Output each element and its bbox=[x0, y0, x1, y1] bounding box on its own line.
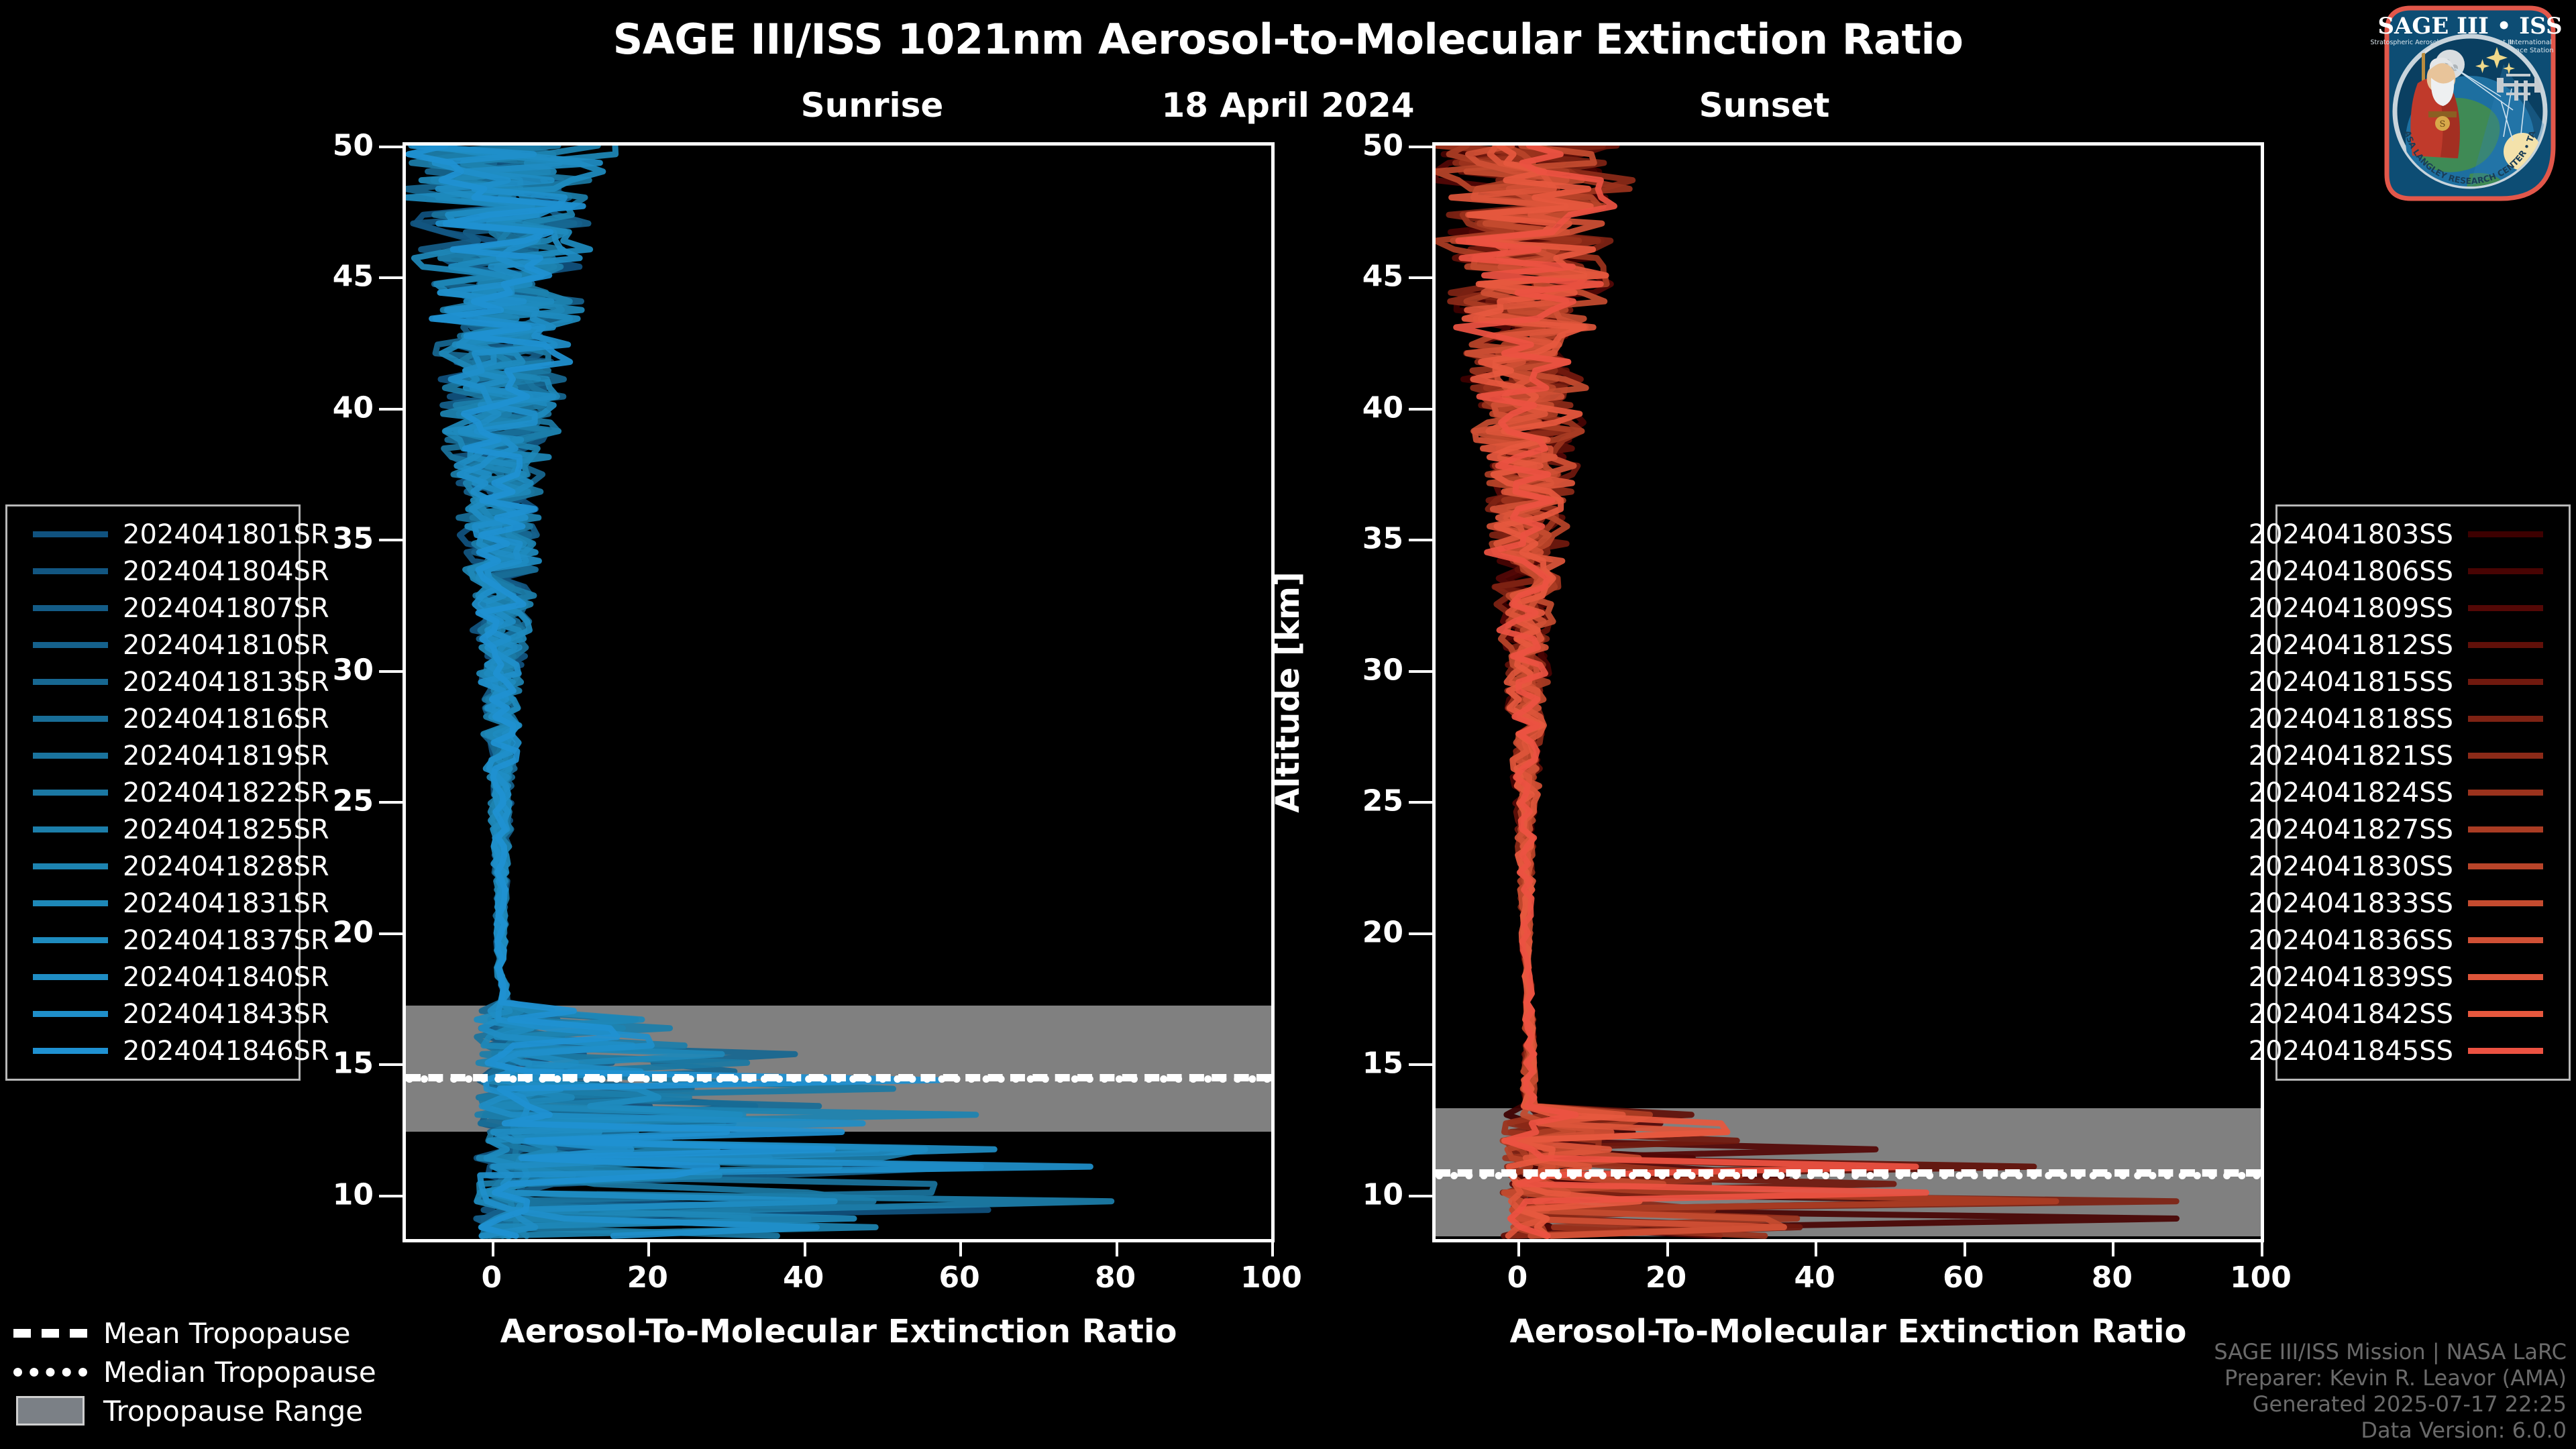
legend-item-2024041801SR[interactable]: 2024041801SR bbox=[18, 516, 288, 553]
y-axis-tick bbox=[379, 276, 406, 279]
credits-block: SAGE III/ISS Mission | NASA LaRC Prepare… bbox=[2214, 1339, 2567, 1444]
x-axis-tick bbox=[1271, 1239, 1274, 1256]
subtitle-row: Sunrise 18 April 2024 Sunset bbox=[0, 86, 2576, 133]
legend-color-swatch bbox=[33, 753, 108, 759]
legend-color-swatch bbox=[2468, 937, 2543, 943]
legend-item-tropopause-range: Tropopause Range bbox=[13, 1391, 443, 1430]
legend-item-label: 2024041825SR bbox=[123, 814, 329, 845]
profile-curves bbox=[1436, 146, 2261, 1239]
y-axis-tick-label: 45 bbox=[333, 260, 374, 294]
legend-color-swatch bbox=[2468, 605, 2543, 611]
y-axis-tick-label: 25 bbox=[1362, 784, 1403, 818]
legend-item-2024041819SR[interactable]: 2024041819SR bbox=[18, 737, 288, 774]
y-axis-tick-label: 30 bbox=[333, 653, 374, 687]
legend-item-label: 2024041806SS bbox=[2249, 556, 2453, 587]
legend-color-swatch bbox=[33, 826, 108, 833]
legend-item-label: 2024041842SS bbox=[2249, 999, 2453, 1030]
legend-item-2024041804SR[interactable]: 2024041804SR bbox=[18, 553, 288, 590]
legend-color-swatch bbox=[2468, 1011, 2543, 1017]
y-axis-tick-label: 30 bbox=[1362, 653, 1403, 687]
y-axis-tick-label: 10 bbox=[333, 1177, 374, 1212]
x-axis-tick bbox=[1517, 1239, 1520, 1256]
legend-item-label: 2024041824SS bbox=[2249, 777, 2453, 808]
x-axis-tick bbox=[1964, 1239, 1966, 1256]
x-axis-tick-label: 20 bbox=[627, 1260, 668, 1295]
x-axis-tick bbox=[2112, 1239, 2114, 1256]
legend-color-swatch bbox=[2468, 679, 2543, 685]
legend-color-swatch bbox=[2468, 826, 2543, 833]
legend-item-2024041833SS[interactable]: 2024041833SS bbox=[2288, 885, 2558, 922]
svg-text:S: S bbox=[2440, 119, 2446, 129]
y-axis-tick-label: 25 bbox=[333, 784, 374, 818]
x-axis-tick bbox=[2261, 1239, 2263, 1256]
x-axis-tick bbox=[959, 1239, 962, 1256]
y-axis-tick bbox=[1409, 801, 1436, 804]
svg-text:International: International bbox=[2509, 39, 2552, 46]
tropopause-legend: Mean Tropopause Median Tropopause Tropop… bbox=[13, 1313, 443, 1430]
legend-item-2024041846SR[interactable]: 2024041846SR bbox=[18, 1032, 288, 1069]
sunset-plot-panel: Altitude [km] Aerosol-To-Molecular Extin… bbox=[1432, 142, 2264, 1242]
median-tropopause-line bbox=[406, 1075, 1271, 1083]
y-axis-tick-label: 45 bbox=[1362, 260, 1403, 294]
legend-item-label: 2024041836SS bbox=[2249, 925, 2453, 956]
x-axis-tick-label: 100 bbox=[2230, 1260, 2292, 1295]
y-axis-tick bbox=[379, 801, 406, 804]
legend-item-2024041828SR[interactable]: 2024041828SR bbox=[18, 848, 288, 885]
legend-item-label: 2024041819SR bbox=[123, 741, 329, 771]
legend-item-2024041831SR[interactable]: 2024041831SR bbox=[18, 885, 288, 922]
y-axis-tick-label: 10 bbox=[1362, 1177, 1403, 1212]
legend-color-swatch bbox=[2468, 642, 2543, 648]
legend-item-label: 2024041840SR bbox=[123, 962, 329, 993]
y-axis-tick-label: 15 bbox=[1362, 1046, 1403, 1081]
sunset-profile-legend[interactable]: 2024041803SS2024041806SS2024041809SS2024… bbox=[2275, 504, 2571, 1081]
legend-color-swatch bbox=[2468, 863, 2543, 869]
legend-item-2024041843SR[interactable]: 2024041843SR bbox=[18, 996, 288, 1032]
x-axis-tick bbox=[1116, 1239, 1118, 1256]
legend-item-label: 2024041830SS bbox=[2249, 851, 2453, 882]
sunrise-panel-label: Sunrise bbox=[704, 86, 1040, 125]
sage-iii-iss-logo-icon: SAGE III • ISS Stratospheric Aerosol and… bbox=[2369, 3, 2571, 204]
legend-item-2024041807SR[interactable]: 2024041807SR bbox=[18, 590, 288, 627]
y-axis-tick bbox=[379, 1195, 406, 1197]
median-tropopause-line bbox=[1436, 1172, 2261, 1179]
credit-line-mission: SAGE III/ISS Mission | NASA LaRC bbox=[2214, 1339, 2567, 1365]
shaded-band-icon bbox=[13, 1396, 87, 1426]
legend-color-swatch bbox=[33, 531, 108, 537]
legend-item-2024041825SR[interactable]: 2024041825SR bbox=[18, 811, 288, 848]
legend-item-label: 2024041827SS bbox=[2249, 814, 2453, 845]
sunrise-plot-panel: Altitude [km] Aerosol-To-Molecular Extin… bbox=[402, 142, 1275, 1242]
legend-item-2024041821SS[interactable]: 2024041821SS bbox=[2288, 737, 2558, 774]
legend-item-median-tropopause: Median Tropopause bbox=[13, 1352, 443, 1391]
legend-color-swatch bbox=[33, 642, 108, 648]
sunrise-plot-area bbox=[406, 146, 1271, 1239]
x-axis-tick-label: 40 bbox=[783, 1260, 824, 1295]
tropopause-range-label: Tropopause Range bbox=[103, 1395, 363, 1428]
legend-item-2024041827SS[interactable]: 2024041827SS bbox=[2288, 811, 2558, 848]
legend-item-label: 2024041846SR bbox=[123, 1036, 329, 1067]
mean-tropopause-label: Mean Tropopause bbox=[103, 1317, 350, 1350]
legend-item-label: 2024041807SR bbox=[123, 593, 329, 624]
legend-item-2024041839SS[interactable]: 2024041839SS bbox=[2288, 959, 2558, 996]
legend-item-2024041813SR[interactable]: 2024041813SR bbox=[18, 663, 288, 700]
legend-color-swatch bbox=[2468, 568, 2543, 574]
legend-item-2024041836SS[interactable]: 2024041836SS bbox=[2288, 922, 2558, 959]
sunset-x-axis-title: Aerosol-To-Molecular Extinction Ratio bbox=[1436, 1313, 2261, 1350]
y-axis-tick-label: 20 bbox=[1362, 915, 1403, 949]
page-title: SAGE III/ISS 1021nm Aerosol-to-Molecular… bbox=[0, 15, 2576, 64]
credit-line-generated: Generated 2025-07-17 22:25 bbox=[2214, 1391, 2567, 1417]
y-axis-tick bbox=[379, 932, 406, 935]
y-axis-tick-label: 40 bbox=[1362, 390, 1403, 425]
legend-item-2024041840SR[interactable]: 2024041840SR bbox=[18, 959, 288, 996]
legend-item-2024041837SR[interactable]: 2024041837SR bbox=[18, 922, 288, 959]
y-axis-tick bbox=[1409, 539, 1436, 541]
legend-color-swatch bbox=[33, 900, 108, 906]
y-axis-tick bbox=[379, 146, 406, 148]
legend-item-label: 2024041816SR bbox=[123, 704, 329, 735]
y-axis-tick-label: 50 bbox=[333, 129, 374, 163]
legend-item-label: 2024041809SS bbox=[2249, 593, 2453, 624]
y-axis-tick-label: 35 bbox=[1362, 522, 1403, 556]
legend-item-label: 2024041837SR bbox=[123, 925, 329, 956]
legend-item-2024041822SR[interactable]: 2024041822SR bbox=[18, 774, 288, 811]
legend-item-label: 2024041801SR bbox=[123, 519, 329, 550]
legend-item-2024041809SS[interactable]: 2024041809SS bbox=[2288, 590, 2558, 627]
legend-item-label: 2024041822SR bbox=[123, 777, 329, 808]
legend-color-swatch bbox=[33, 679, 108, 685]
legend-color-swatch bbox=[2468, 753, 2543, 759]
x-axis-tick-label: 100 bbox=[1240, 1260, 1302, 1295]
legend-color-swatch bbox=[2468, 716, 2543, 722]
y-axis-tick bbox=[379, 408, 406, 411]
dashed-line-icon bbox=[13, 1329, 87, 1338]
legend-item-label: 2024041845SS bbox=[2249, 1036, 2453, 1067]
y-axis-tick bbox=[1409, 1195, 1436, 1197]
credit-line-data-version: Data Version: 6.0.0 bbox=[2214, 1417, 2567, 1444]
x-axis-tick bbox=[804, 1239, 806, 1256]
legend-color-swatch bbox=[33, 974, 108, 980]
x-axis-tick-label: 60 bbox=[1943, 1260, 1984, 1295]
y-axis-tick bbox=[379, 539, 406, 541]
legend-color-swatch bbox=[2468, 900, 2543, 906]
x-axis-tick-label: 80 bbox=[1095, 1260, 1136, 1295]
sunset-y-axis-title: Altitude [km] bbox=[1269, 558, 1307, 826]
y-axis-tick bbox=[1409, 670, 1436, 673]
sunset-panel-label: Sunset bbox=[1597, 86, 1932, 125]
y-axis-tick-label: 50 bbox=[1362, 129, 1403, 163]
legend-color-swatch bbox=[33, 1011, 108, 1017]
legend-item-label: 2024041803SS bbox=[2249, 519, 2453, 550]
x-axis-tick bbox=[1666, 1239, 1669, 1256]
legend-item-label: 2024041812SS bbox=[2249, 630, 2453, 661]
x-axis-tick-label: 0 bbox=[1507, 1260, 1528, 1295]
legend-item-2024041810SR[interactable]: 2024041810SR bbox=[18, 627, 288, 663]
legend-item-label: 2024041810SR bbox=[123, 630, 329, 661]
legend-color-swatch bbox=[2468, 790, 2543, 796]
legend-item-mean-tropopause: Mean Tropopause bbox=[13, 1313, 443, 1352]
x-axis-tick bbox=[492, 1239, 494, 1256]
legend-color-swatch bbox=[33, 1048, 108, 1054]
sunrise-profile-legend[interactable]: 2024041801SR2024041804SR2024041807SR2024… bbox=[5, 504, 301, 1081]
legend-item-label: 2024041818SS bbox=[2249, 704, 2453, 735]
legend-color-swatch bbox=[33, 863, 108, 869]
legend-item-2024041842SS[interactable]: 2024041842SS bbox=[2288, 996, 2558, 1032]
legend-color-swatch bbox=[2468, 1048, 2543, 1054]
legend-color-swatch bbox=[33, 716, 108, 722]
y-axis-tick bbox=[1409, 146, 1436, 148]
legend-item-2024041824SS[interactable]: 2024041824SS bbox=[2288, 774, 2558, 811]
y-axis-tick bbox=[1409, 1063, 1436, 1066]
observation-date-label: 18 April 2024 bbox=[1006, 86, 1570, 125]
legend-item-label: 2024041821SS bbox=[2249, 741, 2453, 771]
legend-color-swatch bbox=[2468, 974, 2543, 980]
y-axis-tick-label: 20 bbox=[333, 915, 374, 949]
y-axis-tick-label: 15 bbox=[333, 1046, 374, 1081]
x-axis-tick-label: 40 bbox=[1794, 1260, 1835, 1295]
legend-color-swatch bbox=[33, 790, 108, 796]
legend-item-2024041816SR[interactable]: 2024041816SR bbox=[18, 700, 288, 737]
x-axis-tick bbox=[647, 1239, 650, 1256]
legend-color-swatch bbox=[33, 568, 108, 574]
y-axis-tick-label: 35 bbox=[333, 522, 374, 556]
legend-item-label: 2024041831SR bbox=[123, 888, 329, 919]
x-axis-tick-label: 80 bbox=[2092, 1260, 2133, 1295]
dotted-line-icon bbox=[13, 1368, 87, 1377]
legend-item-label: 2024041828SR bbox=[123, 851, 329, 882]
x-axis-tick-label: 60 bbox=[939, 1260, 980, 1295]
y-axis-tick bbox=[1409, 276, 1436, 279]
sunset-plot-area bbox=[1436, 146, 2261, 1239]
legend-color-swatch bbox=[2468, 531, 2543, 537]
legend-item-label: 2024041833SS bbox=[2249, 888, 2453, 919]
legend-item-label: 2024041843SR bbox=[123, 999, 329, 1030]
y-axis-tick bbox=[1409, 932, 1436, 935]
legend-item-2024041830SS[interactable]: 2024041830SS bbox=[2288, 848, 2558, 885]
legend-item-2024041818SS[interactable]: 2024041818SS bbox=[2288, 700, 2558, 737]
legend-item-label: 2024041813SR bbox=[123, 667, 329, 698]
legend-item-label: 2024041839SS bbox=[2249, 962, 2453, 993]
y-axis-tick bbox=[379, 1063, 406, 1066]
legend-item-2024041815SS[interactable]: 2024041815SS bbox=[2288, 663, 2558, 700]
y-axis-tick bbox=[1409, 408, 1436, 411]
x-axis-tick-label: 20 bbox=[1646, 1260, 1686, 1295]
legend-item-2024041845SS[interactable]: 2024041845SS bbox=[2288, 1032, 2558, 1069]
legend-color-swatch bbox=[33, 937, 108, 943]
legend-item-2024041812SS[interactable]: 2024041812SS bbox=[2288, 627, 2558, 663]
legend-item-2024041806SS[interactable]: 2024041806SS bbox=[2288, 553, 2558, 590]
y-axis-tick bbox=[379, 670, 406, 673]
legend-color-swatch bbox=[33, 605, 108, 611]
legend-item-2024041803SS[interactable]: 2024041803SS bbox=[2288, 516, 2558, 553]
median-tropopause-label: Median Tropopause bbox=[103, 1356, 376, 1389]
credit-line-preparer: Preparer: Kevin R. Leavor (AMA) bbox=[2214, 1365, 2567, 1391]
legend-item-label: 2024041815SS bbox=[2249, 667, 2453, 698]
y-axis-tick-label: 40 bbox=[333, 390, 374, 425]
x-axis-tick-label: 0 bbox=[482, 1260, 502, 1295]
sunrise-x-axis-title: Aerosol-To-Molecular Extinction Ratio bbox=[406, 1313, 1271, 1350]
legend-item-label: 2024041804SR bbox=[123, 556, 329, 587]
x-axis-tick bbox=[1815, 1239, 1817, 1256]
